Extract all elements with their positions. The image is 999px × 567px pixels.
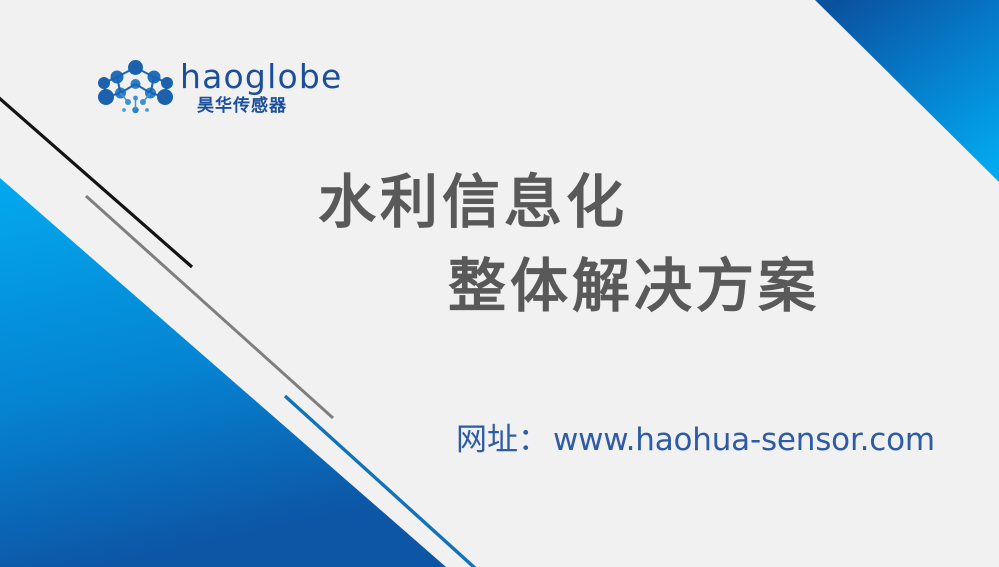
logo-wordmark: haoglobe	[180, 58, 342, 96]
right-blue-triangle	[815, 0, 999, 182]
page-title: 水利信息化 整体解决方案	[0, 160, 999, 328]
logo-chinese-name: 昊华传感器	[197, 96, 287, 116]
company-logo: haoglobe 昊华传感器	[97, 58, 312, 120]
title-line-1: 水利信息化	[0, 160, 999, 244]
website-label: 网址：	[456, 422, 549, 458]
blue-diagonal-line	[285, 396, 476, 567]
slide-canvas: haoglobe 昊华传感器 水利信息化 整体解决方案 网址：www.haohu…	[0, 0, 999, 567]
website-line: 网址：www.haohua-sensor.com	[456, 420, 935, 460]
molecule-network-icon	[97, 60, 175, 116]
title-line-2: 整体解决方案	[0, 244, 999, 328]
website-url[interactable]: www.haohua-sensor.com	[553, 422, 935, 458]
